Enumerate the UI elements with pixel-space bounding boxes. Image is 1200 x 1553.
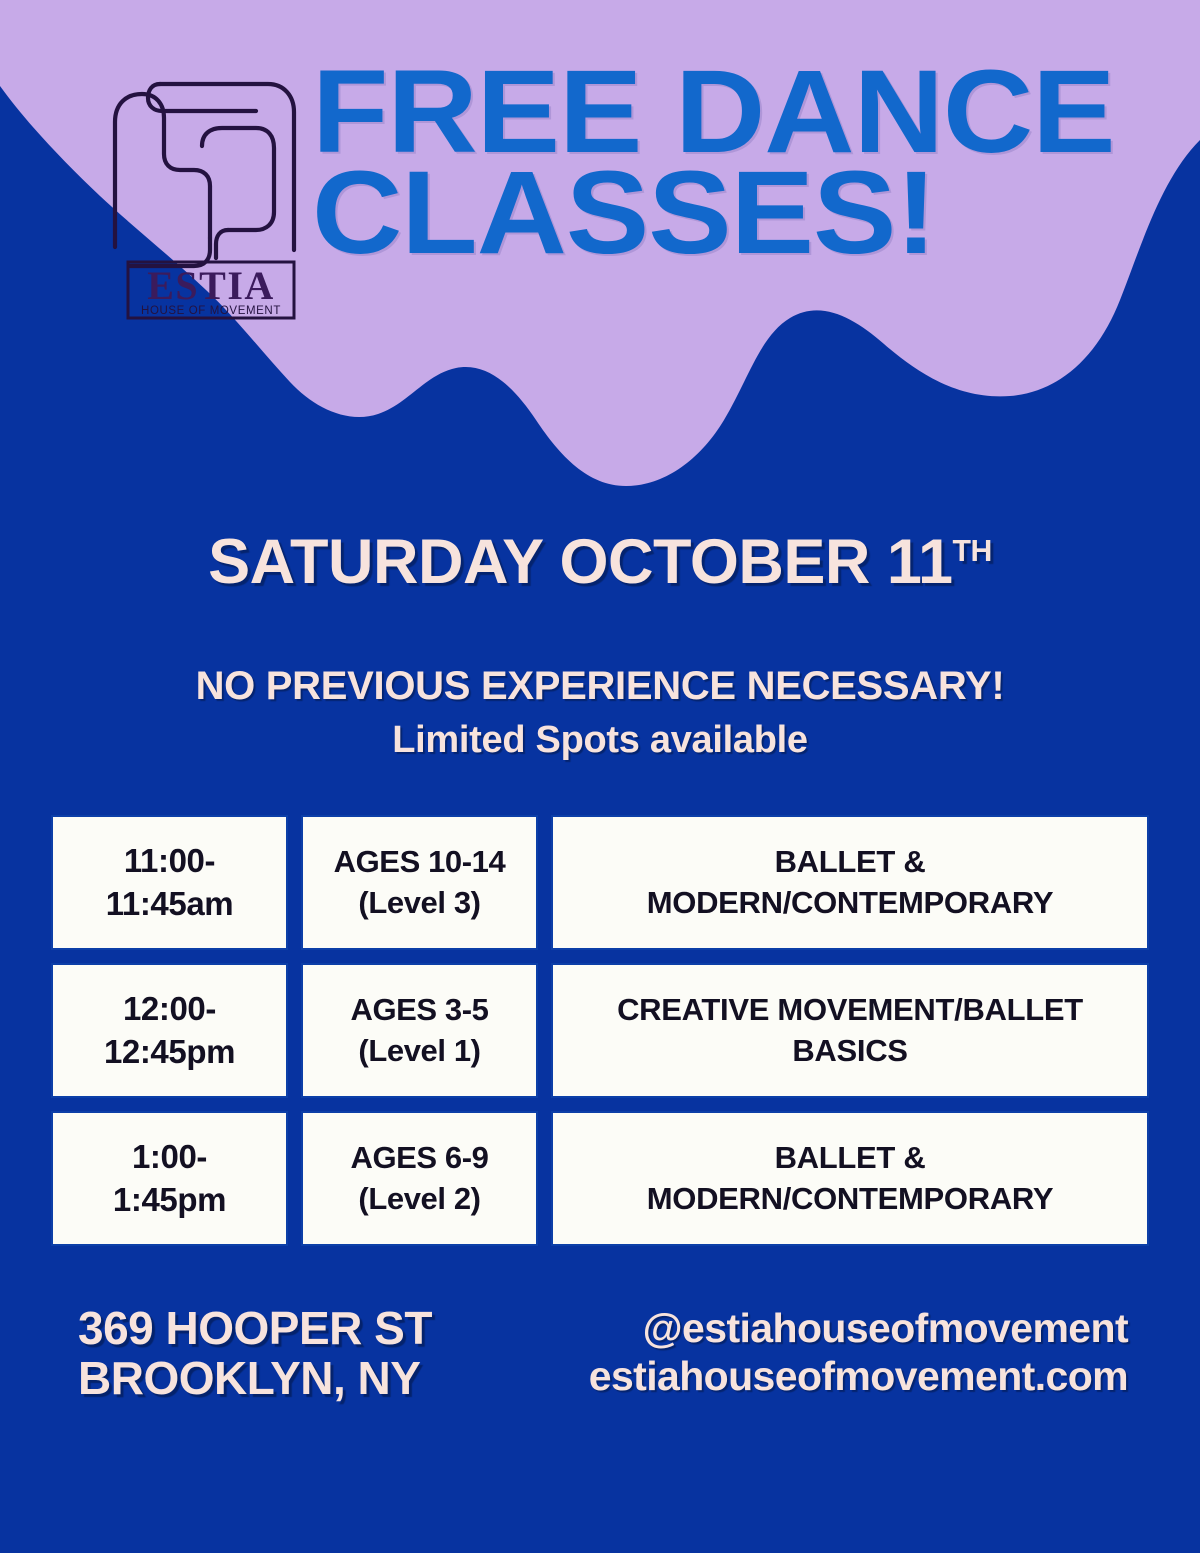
address-line-2: BROOKLYN, NY <box>78 1354 432 1404</box>
schedule-class-cell: CREATIVE MOVEMENT/BALLET BASICS <box>551 963 1149 1098</box>
logo-wordmark: ESTIA <box>147 263 275 308</box>
schedule-time-cell: 11:00- 11:45am <box>51 815 288 950</box>
class-line-1: BALLET & <box>647 1138 1054 1178</box>
time-line-1: 11:00- <box>106 840 233 883</box>
ages-line-2: (Level 1) <box>350 1031 488 1071</box>
schedule-ages-cell: AGES 6-9 (Level 2) <box>301 1111 538 1246</box>
estia-logo: ESTIA HOUSE OF MOVEMENT <box>108 72 308 322</box>
table-row: 1:00- 1:45pm AGES 6-9 (Level 2) BALLET &… <box>51 1111 1149 1246</box>
class-schedule-table: 11:00- 11:45am AGES 10-14 (Level 3) BALL… <box>51 815 1149 1246</box>
schedule-ages-cell: AGES 10-14 (Level 3) <box>301 815 538 950</box>
ages-line-1: AGES 10-14 <box>334 842 506 882</box>
schedule-class-cell: BALLET & MODERN/CONTEMPORARY <box>551 815 1149 950</box>
time-line-2: 12:45pm <box>104 1031 235 1074</box>
class-line-1: CREATIVE MOVEMENT/BALLET <box>617 990 1083 1030</box>
class-line-2: MODERN/CONTEMPORARY <box>647 883 1054 923</box>
schedule-time-cell: 1:00- 1:45pm <box>51 1111 288 1246</box>
address-line-1: 369 HOOPER ST <box>78 1304 432 1354</box>
flyer-footer: 369 HOOPER ST BROOKLYN, NY @estiahouseof… <box>0 1304 1200 1403</box>
experience-note: NO PREVIOUS EXPERIENCE NECESSARY! <box>0 664 1200 709</box>
class-line-1: BALLET & <box>647 842 1054 882</box>
ages-line-1: AGES 6-9 <box>350 1138 488 1178</box>
headline-line-2: CLASSES! <box>312 163 1200 264</box>
class-line-2: BASICS <box>617 1031 1083 1071</box>
time-line-2: 1:45pm <box>113 1179 226 1222</box>
table-row: 11:00- 11:45am AGES 10-14 (Level 3) BALL… <box>51 815 1149 950</box>
schedule-time-cell: 12:00- 12:45pm <box>51 963 288 1098</box>
instagram-handle: @estiahouseofmovement <box>589 1304 1128 1352</box>
event-date-main: SATURDAY OCTOBER 11 <box>208 527 952 597</box>
table-row: 12:00- 12:45pm AGES 3-5 (Level 1) CREATI… <box>51 963 1149 1098</box>
logo-tagline: HOUSE OF MOVEMENT <box>141 305 281 317</box>
limited-spots-note: Limited Spots available <box>0 719 1200 762</box>
ages-line-2: (Level 3) <box>334 883 506 923</box>
flyer-body: SATURDAY OCTOBER 11TH NO PREVIOUS EXPERI… <box>0 500 1200 1403</box>
contact-block: @estiahouseofmovement estiahouseofmoveme… <box>589 1304 1128 1401</box>
time-line-1: 1:00- <box>113 1136 226 1179</box>
flyer-poster: ESTIA HOUSE OF MOVEMENT FREE DANCE CLASS… <box>0 0 1200 1553</box>
time-line-2: 11:45am <box>106 883 233 926</box>
event-date-suffix: TH <box>953 535 992 568</box>
time-line-1: 12:00- <box>104 988 235 1031</box>
schedule-class-cell: BALLET & MODERN/CONTEMPORARY <box>551 1111 1149 1246</box>
page-title: FREE DANCE CLASSES! <box>312 62 1200 265</box>
website-url: estiahouseofmovement.com <box>589 1352 1128 1400</box>
venue-address: 369 HOOPER ST BROOKLYN, NY <box>78 1304 432 1403</box>
ages-line-2: (Level 2) <box>350 1179 488 1219</box>
class-line-2: MODERN/CONTEMPORARY <box>647 1179 1054 1219</box>
schedule-ages-cell: AGES 3-5 (Level 1) <box>301 963 538 1098</box>
ages-line-1: AGES 3-5 <box>350 990 488 1030</box>
event-date: SATURDAY OCTOBER 11TH <box>0 526 1200 598</box>
